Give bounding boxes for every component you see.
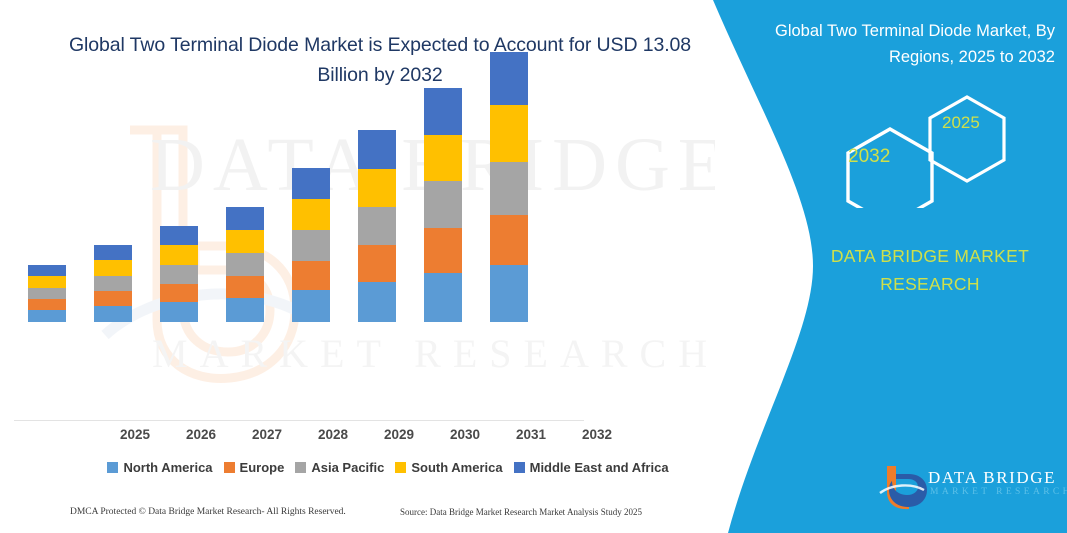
logo-title: DATA BRIDGE [928, 468, 1056, 488]
bar-segment [292, 261, 330, 290]
bar-segment [94, 306, 132, 322]
bar-segment [160, 245, 198, 265]
bar-segment [358, 169, 396, 207]
brand-line-1: DATA BRIDGE MARKET [831, 246, 1029, 266]
bar-segment [424, 135, 462, 181]
company-logo: DATA BRIDGE MARKET RESEARCH [878, 462, 1058, 514]
bar-2030 [358, 130, 396, 322]
bar-2031 [424, 88, 462, 322]
bar-segment [358, 245, 396, 282]
bar-segment [160, 284, 198, 302]
x-axis-label-2027: 2027 [234, 427, 300, 442]
bar-segment [424, 88, 462, 135]
legend-swatch [514, 462, 525, 473]
bar-segment [28, 299, 66, 310]
legend-label: North America [123, 460, 212, 475]
legend-label: South America [411, 460, 502, 475]
data-bridge-mark-icon [878, 462, 930, 510]
bar-segment [28, 288, 66, 299]
bar-segment [358, 282, 396, 322]
legend-swatch [224, 462, 235, 473]
infographic-root: DATA BRIDGE MARKET RESEARCH Global Two T… [0, 0, 1067, 533]
legend-item[interactable]: South America [395, 460, 502, 475]
bar-segment [292, 290, 330, 322]
panel-title: Global Two Terminal Diode Market, By Reg… [735, 18, 1065, 70]
hexagon-group: 2032 2025 [820, 88, 1040, 208]
bar-segment [226, 230, 264, 253]
bar-segment [292, 230, 330, 261]
hexagon-label-2025: 2025 [942, 113, 980, 133]
bar-segment [94, 291, 132, 306]
bar-segment [28, 276, 66, 288]
legend-swatch [395, 462, 406, 473]
bar-segment [358, 207, 396, 245]
footer-copyright: DMCA Protected © Data Bridge Market Rese… [70, 507, 346, 517]
bar-segment [424, 228, 462, 273]
x-axis-label-2026: 2026 [168, 427, 234, 442]
bar-segment [160, 265, 198, 284]
x-axis-line [14, 420, 584, 421]
bar-segment [424, 181, 462, 228]
bar-segment [490, 215, 528, 265]
bar-2028 [226, 207, 264, 322]
bar-segment [94, 245, 132, 260]
brand-line-2: RESEARCH [880, 274, 980, 294]
bar-segment [358, 130, 396, 169]
footer: DMCA Protected © Data Bridge Market Rese… [0, 507, 700, 527]
bar-segment [28, 265, 66, 276]
bar-segment [226, 207, 264, 230]
x-axis-label-2028: 2028 [300, 427, 366, 442]
x-axis-labels: 20252026202720282029203020312032 [88, 427, 688, 449]
bar-segment [490, 105, 528, 162]
hexagon-label-2032: 2032 [848, 146, 890, 168]
legend-label: Asia Pacific [311, 460, 384, 475]
legend-item[interactable]: Asia Pacific [295, 460, 384, 475]
legend-swatch [295, 462, 306, 473]
bar-segment [226, 298, 264, 322]
brand-name: DATA BRIDGE MARKET RESEARCH [790, 242, 1067, 298]
legend-item[interactable]: Middle East and Africa [514, 460, 669, 475]
chart-plot-area [0, 0, 600, 322]
footer-source: Source: Data Bridge Market Research Mark… [400, 507, 642, 517]
x-axis-label-2031: 2031 [498, 427, 564, 442]
legend-item[interactable]: North America [107, 460, 212, 475]
legend-swatch [107, 462, 118, 473]
x-axis-label-2025: 2025 [102, 427, 168, 442]
bar-segment [94, 276, 132, 291]
x-axis-label-2029: 2029 [366, 427, 432, 442]
bar-segment [490, 265, 528, 322]
bar-segment [424, 273, 462, 322]
legend-item[interactable]: Europe [224, 460, 285, 475]
x-axis-label-2030: 2030 [432, 427, 498, 442]
x-axis-label-2032: 2032 [564, 427, 630, 442]
bar-segment [490, 52, 528, 105]
chart-legend: North AmericaEuropeAsia PacificSouth Ame… [88, 455, 688, 479]
bar-segment [292, 168, 330, 199]
bar-2032 [490, 52, 528, 322]
hexagon-2032-shape [848, 129, 932, 208]
bar-2025 [28, 265, 66, 322]
bar-segment [292, 199, 330, 230]
bar-segment [28, 310, 66, 322]
bar-2029 [292, 168, 330, 322]
bar-segment [94, 260, 132, 276]
bar-2026 [94, 245, 132, 322]
bar-2027 [160, 226, 198, 322]
legend-label: Europe [240, 460, 285, 475]
bar-segment [226, 253, 264, 276]
bar-segment [226, 276, 264, 298]
legend-label: Middle East and Africa [530, 460, 669, 475]
bar-segment [490, 162, 528, 215]
logo-subtitle: MARKET RESEARCH [930, 487, 1067, 497]
bar-segment [160, 302, 198, 322]
bar-segment [160, 226, 198, 245]
hexagon-2025-shape [930, 97, 1004, 181]
